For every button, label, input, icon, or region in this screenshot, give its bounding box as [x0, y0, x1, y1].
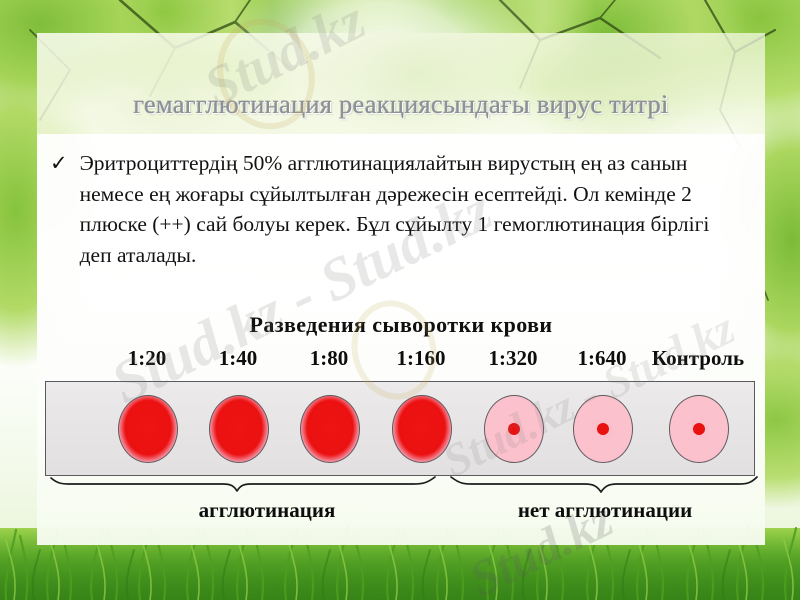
- hemagglutination-figure: Разведения сыворотки крови 1:20 1:40 1:8…: [37, 306, 765, 538]
- rbc-button-icon: [508, 423, 520, 435]
- caption-no-agglutination: нет агглютинации: [518, 498, 692, 523]
- page-title: гемагглютинация реакциясындағы вирус тит…: [37, 89, 765, 120]
- well-1-640: [573, 395, 633, 463]
- rbc-button-icon: [693, 423, 705, 435]
- microtiter-plate: [45, 381, 755, 476]
- brace-agglutination: [51, 477, 435, 491]
- caption-agglutination: агглютинация: [199, 498, 336, 523]
- dilution-label-1-40: 1:40: [219, 346, 258, 371]
- well-1-160: [392, 395, 452, 463]
- rbc-button-icon: [597, 423, 609, 435]
- title-container: гемагглютинация реакциясындағы вирус тит…: [37, 33, 765, 134]
- well-1-320: [484, 395, 544, 463]
- dilution-label-row: 1:20 1:40 1:80 1:160 1:320 1:640 Контрол…: [37, 346, 765, 372]
- dilution-label-1-80: 1:80: [310, 346, 349, 371]
- slide: гемагглютинация реакциясындағы вирус тит…: [0, 0, 800, 600]
- grouping-braces: [37, 474, 765, 500]
- check-icon: ✓: [50, 148, 68, 270]
- dilution-label-1-320: 1:320: [489, 346, 538, 371]
- dilution-label-control: Контроль: [652, 346, 744, 371]
- dilution-label-1-160: 1:160: [397, 346, 446, 371]
- well-1-20: [118, 395, 178, 463]
- bullet-list: ✓ Эритроциттердің 50% агглютинациялайтын…: [50, 148, 750, 270]
- figure-heading: Разведения сыворотки крови: [37, 312, 765, 338]
- brace-no-agglutination: [451, 477, 757, 492]
- dilution-label-1-640: 1:640: [578, 346, 627, 371]
- dilution-label-1-20: 1:20: [128, 346, 167, 371]
- bullet-text: Эритроциттердің 50% агглютинациялайтын в…: [80, 148, 740, 270]
- well-1-80: [300, 395, 360, 463]
- well-control: [669, 395, 729, 463]
- well-1-40: [209, 395, 269, 463]
